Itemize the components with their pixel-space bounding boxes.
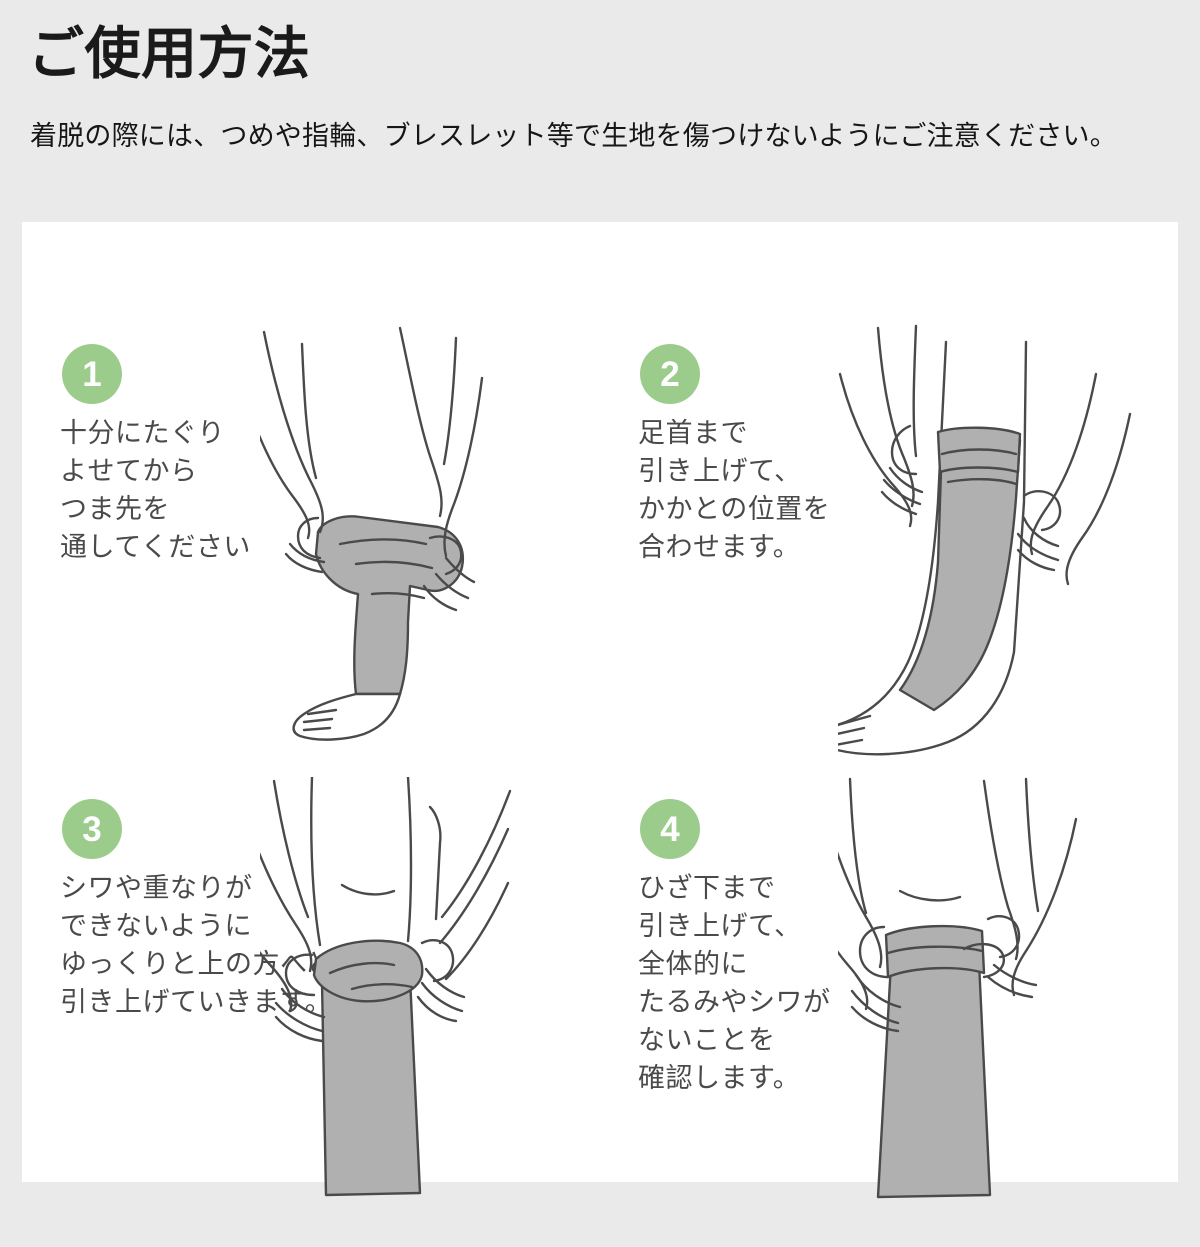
step-item-4: 4 ひざ下まで 引き上げて、 全体的に たるみやシワが ないことを 確認します。	[600, 777, 1178, 1247]
step-item-3: 3 シワや重なりが できないように ゆっくりと上の方へと 引き上げていきます。	[22, 777, 600, 1247]
step-number-badge-3: 3	[62, 799, 122, 859]
step-illustration-2	[838, 322, 1178, 792]
step-number-badge-2: 2	[640, 344, 700, 404]
steps-card: 1 十分にたぐり よせてから つま先を 通してください	[22, 222, 1178, 1182]
step-item-1: 1 十分にたぐり よせてから つま先を 通してください	[22, 322, 600, 792]
step-number-badge-1: 1	[62, 344, 122, 404]
step-caption-3: シワや重なりが できないように ゆっくりと上の方へと 引き上げていきます。	[60, 869, 334, 1021]
step-caption-1: 十分にたぐり よせてから つま先を 通してください	[60, 414, 251, 566]
step-illustration-4	[838, 777, 1178, 1207]
steps-grid: 1 十分にたぐり よせてから つま先を 通してください	[22, 222, 1178, 1182]
step-number-badge-4: 4	[640, 799, 700, 859]
page-title: ご使用方法	[28, 22, 311, 86]
step-caption-4: ひざ下まで 引き上げて、 全体的に たるみやシワが ないことを 確認します。	[638, 869, 831, 1097]
step-illustration-1	[260, 322, 600, 792]
step-caption-2: 足首まで 引き上げて、 かかとの位置を 合わせます。	[638, 414, 830, 566]
step-item-2: 2 足首まで 引き上げて、 かかとの位置を 合わせます。	[600, 322, 1178, 792]
page-subtitle: 着脱の際には、つめや指輪、ブレスレット等で生地を傷つけないようにご注意ください。	[30, 114, 1160, 158]
instruction-page: ご使用方法 着脱の際には、つめや指輪、ブレスレット等で生地を傷つけないようにご注…	[0, 0, 1200, 1200]
